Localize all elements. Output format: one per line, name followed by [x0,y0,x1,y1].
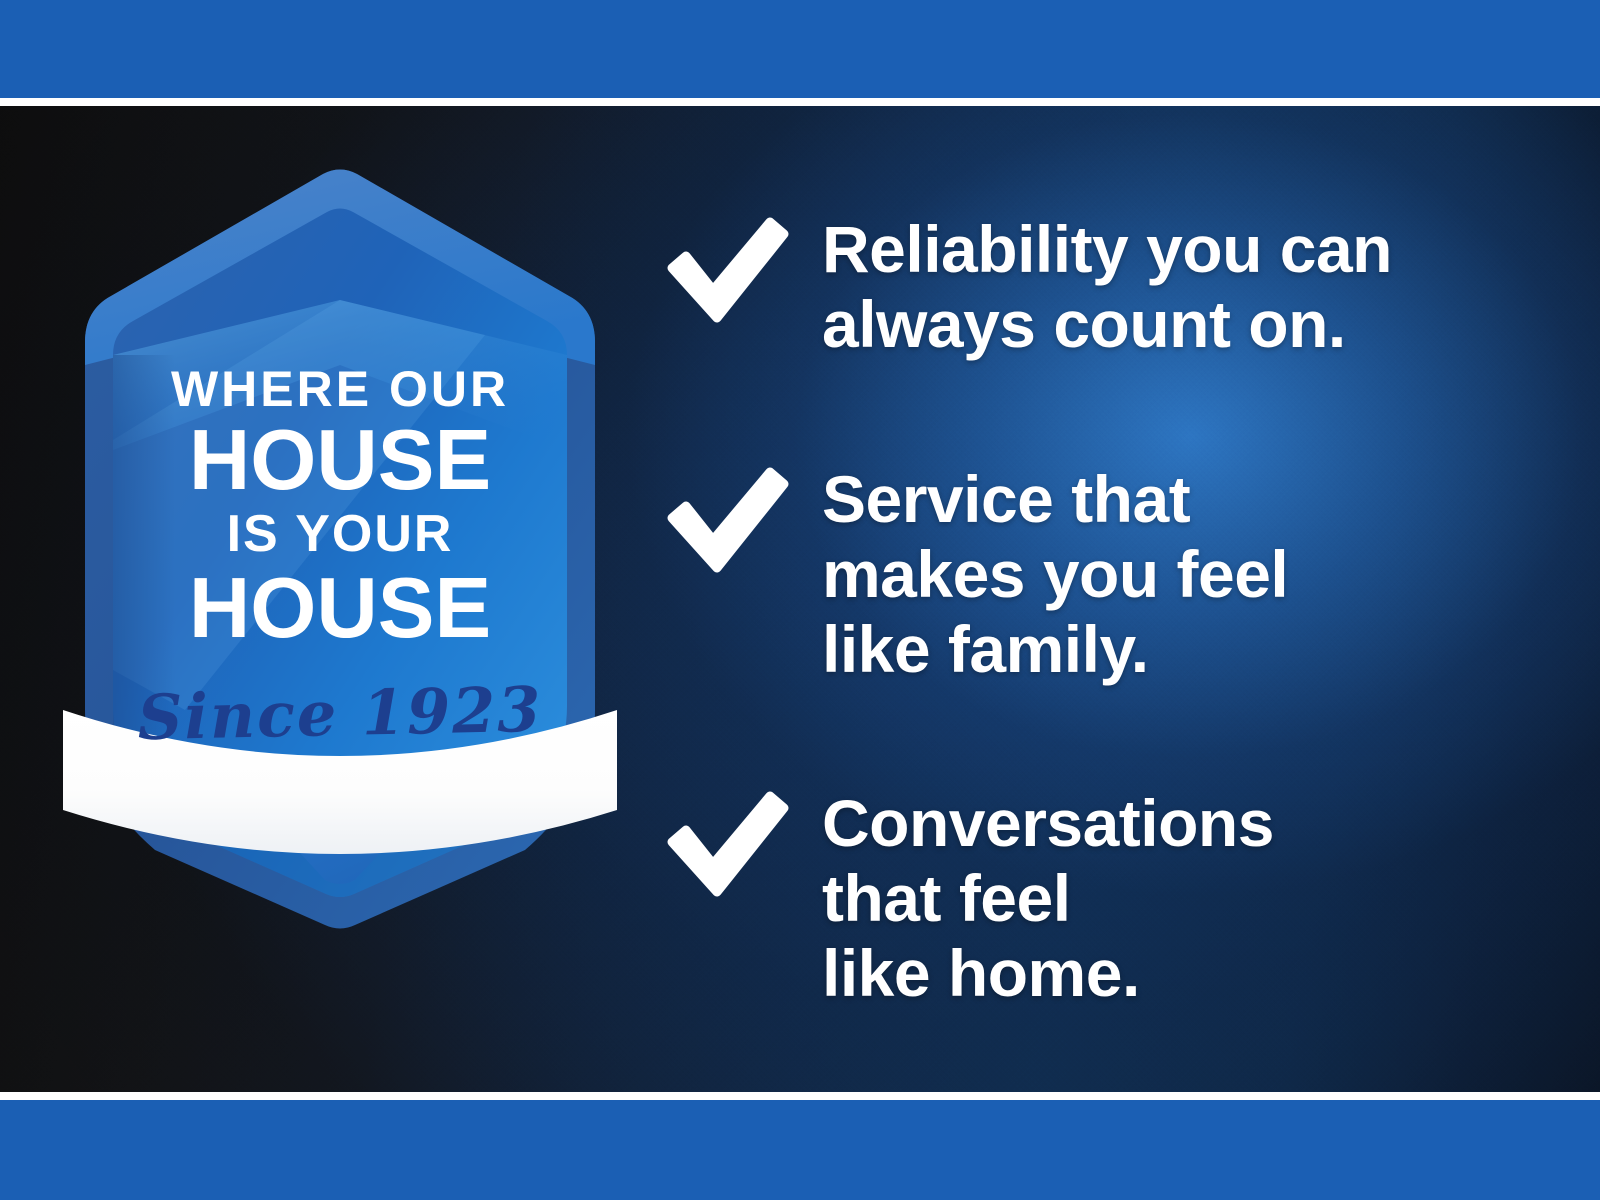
top-brand-bar [0,0,1600,98]
benefit-item: Reliability you can always count on. [660,212,1520,362]
promo-graphic: WHERE OUR HOUSE IS YOUR HOUSE Since 1923… [0,0,1600,1200]
benefit-item: Conversations that feel like home. [660,786,1520,1012]
checkmark-icon [660,790,790,902]
checkmark-icon [660,216,790,328]
benefit-text: Service that makes you feel like family. [822,462,1520,688]
checkmark-icon [660,466,790,578]
shield-badge: WHERE OUR HOUSE IS YOUR HOUSE Since 1923 [55,150,625,940]
benefit-item: Service that makes you feel like family. [660,462,1520,688]
shield-badge-icon [55,150,625,940]
benefits-list: Reliability you can always count on. Ser… [660,106,1520,1092]
benefit-text: Conversations that feel like home. [822,786,1520,1012]
bottom-brand-bar [0,1100,1600,1200]
benefit-text: Reliability you can always count on. [822,212,1520,362]
